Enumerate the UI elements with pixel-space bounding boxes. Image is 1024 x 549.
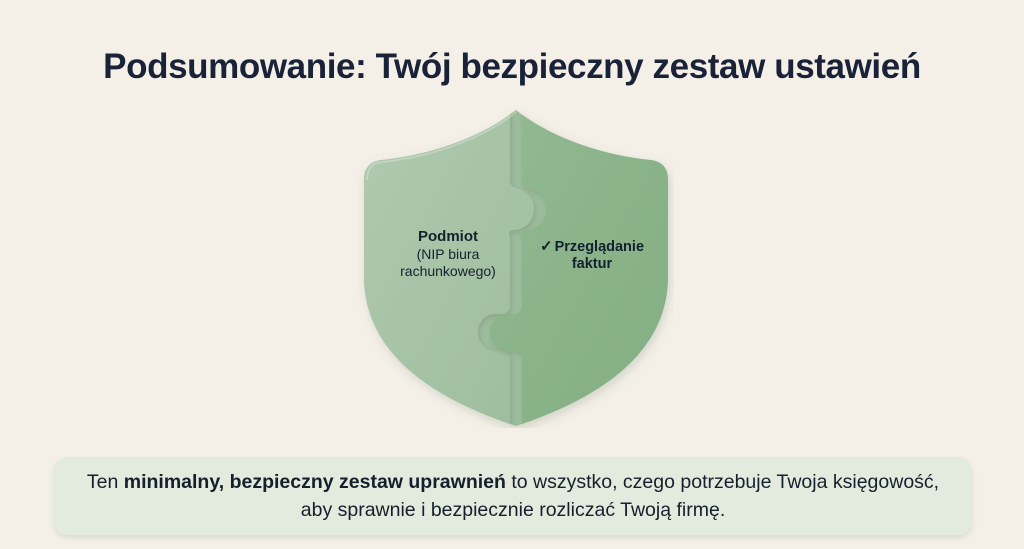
summary-callout-text: Ten minimalny, bezpieczny zestaw uprawni… — [80, 468, 946, 525]
shield-right-line2: faktur — [516, 256, 668, 273]
check-icon: ✓ — [540, 238, 553, 255]
summary-callout: Ten minimalny, bezpieczny zestaw uprawni… — [54, 457, 972, 535]
callout-text-bold: minimalny, bezpieczny zestaw uprawnień — [124, 471, 506, 493]
shield-left-label: Podmiot (NIP biura rachunkowego) — [378, 228, 518, 279]
slide-root: Podsumowanie: Twój bezpieczny zestaw ust… — [0, 0, 1024, 549]
page-title: Podsumowanie: Twój bezpieczny zestaw ust… — [0, 47, 1024, 87]
shield-right-line1: Przeglądanie — [555, 239, 644, 255]
shield-right-label: ✓Przeglądanie faktur — [516, 238, 668, 273]
shield-left-title: Podmiot — [378, 228, 518, 245]
callout-text-before: Ten — [87, 471, 124, 493]
shield-left-subtitle: (NIP biura rachunkowego) — [378, 246, 518, 278]
shield-right-line1-wrap: ✓Przeglądanie — [516, 238, 668, 256]
